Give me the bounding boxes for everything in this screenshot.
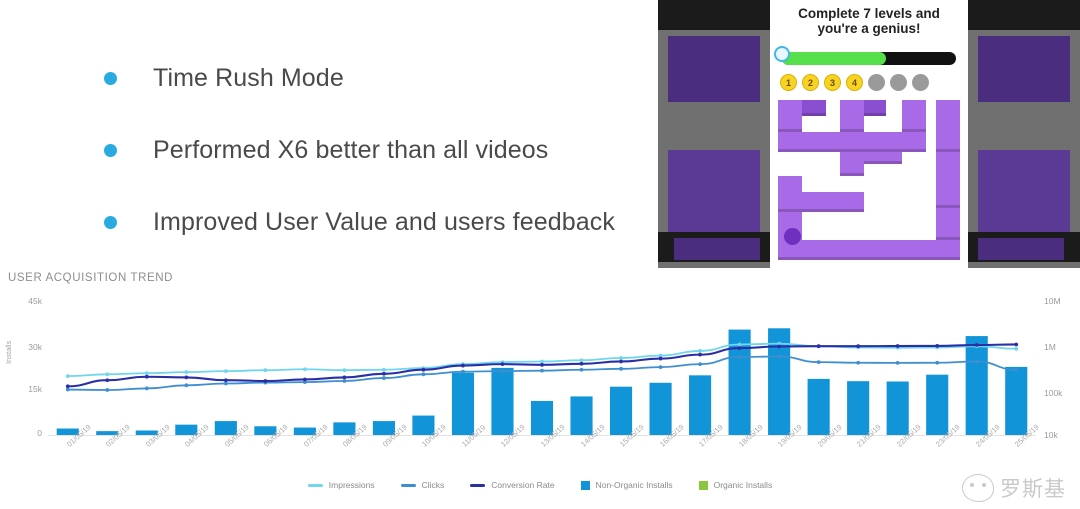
bullet-text: Performed X6 better than all videos (153, 136, 548, 165)
plot-area (48, 290, 1036, 436)
data-point (382, 376, 386, 380)
data-point (698, 349, 702, 353)
y-axis-left: 45k 30k 15k 0 Installs (0, 290, 48, 440)
legend-label: Organic Installs (714, 480, 773, 490)
data-point (422, 368, 426, 372)
y-tick: 15k (28, 384, 42, 394)
game-headline: Complete 7 levels and you're a genius! (770, 6, 968, 36)
watermark-text: 罗斯基 (1000, 473, 1066, 503)
legend-item[interactable]: Non-Organic Installs (581, 480, 673, 490)
list-item: Improved User Value and users feedback (104, 186, 664, 258)
bar (689, 375, 711, 436)
data-point (224, 378, 228, 382)
game-side-block (978, 36, 1070, 102)
data-point (777, 345, 781, 349)
data-point (540, 363, 544, 367)
level-badge-locked (912, 74, 929, 91)
bullet-text: Improved User Value and users feedback (153, 208, 615, 237)
data-point (145, 387, 149, 391)
data-point (896, 344, 900, 348)
data-point (935, 344, 939, 348)
data-point (580, 368, 584, 372)
y2-tick: 10M (1044, 296, 1061, 306)
data-point (698, 353, 702, 357)
data-point (343, 375, 347, 379)
data-point (738, 343, 742, 347)
legend-item[interactable]: Conversion Rate (470, 480, 554, 490)
game-side-block (978, 150, 1070, 232)
list-item: Performed X6 better than all videos (104, 114, 664, 186)
data-point (382, 368, 386, 372)
data-point (501, 369, 505, 373)
legend-label: Clicks (422, 480, 445, 490)
data-point (105, 372, 109, 376)
legend-item[interactable]: Organic Installs (699, 480, 773, 490)
level-badge-locked (890, 74, 907, 91)
data-point (738, 346, 742, 350)
data-point (184, 370, 188, 374)
data-point (817, 344, 821, 348)
data-point (540, 369, 544, 373)
bar (491, 368, 513, 436)
data-point (66, 374, 70, 378)
level-badge: 2 (802, 74, 819, 91)
game-maze (778, 100, 960, 260)
progress-knob-icon (774, 46, 790, 62)
legend-item[interactable]: Clicks (401, 480, 445, 490)
bar (808, 379, 830, 436)
data-point (1014, 347, 1018, 351)
data-point (263, 368, 267, 372)
bar (610, 387, 632, 436)
page-title: USER ACQUISITION TREND (8, 272, 173, 284)
level-badge-locked (868, 74, 885, 91)
data-point (659, 365, 663, 369)
smiley-face-icon (962, 474, 994, 502)
data-point (105, 378, 109, 382)
data-point (66, 384, 70, 388)
data-point (1014, 368, 1018, 372)
data-point (461, 364, 465, 368)
progress-bar-fill (782, 52, 886, 65)
data-point (659, 357, 663, 361)
chart-legend: ImpressionsClicksConversion RateNon-Orga… (0, 480, 1080, 490)
data-point (619, 356, 623, 360)
legend-item[interactable]: Impressions (308, 480, 375, 490)
data-point (105, 388, 109, 392)
bar (570, 396, 592, 436)
data-point (66, 388, 70, 392)
level-indicator-group: 1 2 3 4 (780, 74, 960, 91)
game-headline-line1: Complete 7 levels and (798, 6, 940, 21)
game-side-block (668, 150, 760, 232)
slide: Time Rush Mode Performed X6 better than … (0, 0, 1080, 509)
data-point (975, 360, 979, 364)
data-point (184, 375, 188, 379)
data-point (263, 379, 267, 383)
data-point (303, 378, 307, 382)
data-point (856, 344, 860, 348)
game-center-panel: Complete 7 levels and you're a genius! 1… (770, 0, 968, 268)
legend-label: Conversion Rate (491, 480, 554, 490)
watermark: 罗斯基 (962, 473, 1066, 503)
y2-tick: 100k (1044, 388, 1062, 398)
y-axis-right: 10M 1M 100k 10k (1040, 290, 1080, 440)
bar (887, 381, 909, 436)
bullet-list: Time Rush Mode Performed X6 better than … (104, 42, 664, 258)
level-badge: 4 (846, 74, 863, 91)
data-point (975, 343, 979, 347)
data-point (145, 375, 149, 379)
user-acquisition-chart: 45k 30k 15k 0 Installs 10M 1M 100k 10k 0… (0, 290, 1080, 509)
data-point (343, 368, 347, 372)
game-screenshot: Complete 7 levels and you're a genius! 1… (658, 0, 1080, 268)
data-point (896, 361, 900, 365)
bar (1005, 367, 1027, 436)
data-point (343, 379, 347, 383)
data-point (738, 355, 742, 359)
bullet-dot-icon (104, 144, 117, 157)
data-point (580, 362, 584, 366)
x-axis-labels: 01/05/1902/05/1903/05/1904/05/1905/05/19… (48, 438, 1036, 478)
data-point (422, 372, 426, 376)
y-tick: 0 (37, 428, 42, 438)
bar (847, 381, 869, 436)
data-point (501, 362, 505, 366)
bar (966, 336, 988, 436)
game-side-block (668, 36, 760, 102)
data-point (184, 383, 188, 387)
legend-line-icon (401, 484, 416, 487)
game-side-block (978, 238, 1064, 260)
level-badge: 1 (780, 74, 797, 91)
data-point (1014, 343, 1018, 347)
data-point (145, 371, 149, 375)
y-axis-label: Installs (4, 341, 13, 364)
data-point (540, 360, 544, 364)
bar (452, 373, 474, 436)
data-point (224, 369, 228, 373)
progress-bar (782, 52, 956, 65)
legend-label: Non-Organic Installs (596, 480, 673, 490)
list-item: Time Rush Mode (104, 42, 664, 114)
legend-label: Impressions (329, 480, 375, 490)
data-point (580, 358, 584, 362)
data-point (777, 355, 781, 359)
data-point (619, 367, 623, 371)
data-point (935, 361, 939, 365)
game-ball-icon (784, 228, 801, 245)
data-point (224, 382, 228, 386)
legend-line-icon (308, 484, 323, 487)
data-point (303, 367, 307, 371)
y-tick: 45k (28, 296, 42, 306)
y2-tick: 1M (1044, 342, 1056, 352)
legend-line-icon (470, 484, 485, 487)
data-point (698, 362, 702, 366)
legend-swatch-icon (581, 481, 590, 490)
y2-tick: 10k (1044, 430, 1058, 440)
data-point (817, 360, 821, 364)
bar (649, 383, 671, 436)
data-point (461, 370, 465, 374)
data-point (619, 360, 623, 364)
level-badge: 3 (824, 74, 841, 91)
bullet-text: Time Rush Mode (153, 64, 344, 93)
game-headline-line2: you're a genius! (818, 21, 921, 36)
legend-swatch-icon (699, 481, 708, 490)
bar (926, 375, 948, 436)
data-point (382, 372, 386, 376)
game-side-block (674, 238, 760, 260)
bullet-dot-icon (104, 216, 117, 229)
data-point (856, 361, 860, 365)
y-tick: 30k (28, 342, 42, 352)
bullet-dot-icon (104, 72, 117, 85)
